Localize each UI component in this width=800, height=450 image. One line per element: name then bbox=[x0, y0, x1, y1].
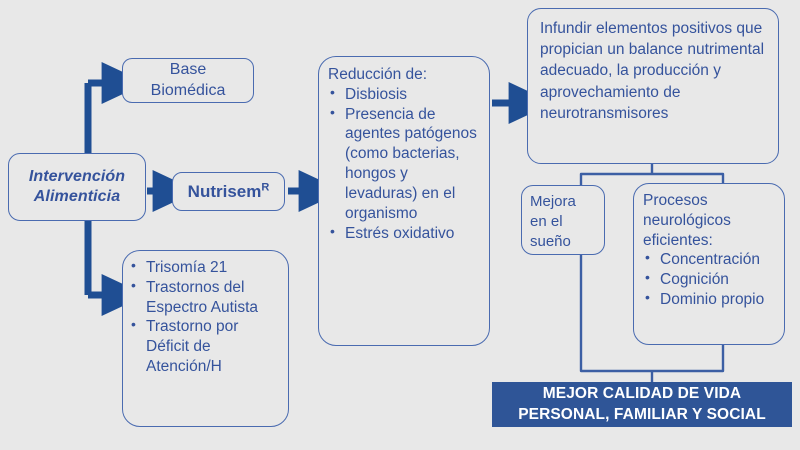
list-item: Trastornos del Espectro Autista bbox=[129, 278, 282, 318]
list-item: Concentración bbox=[643, 250, 778, 270]
base-biomedica-line-2: Biomédica bbox=[151, 81, 226, 101]
node-mejora-sueno[interactable]: Mejora en el sueño bbox=[521, 185, 605, 255]
mejora-line-3: sueño bbox=[530, 232, 598, 252]
mejora-line-2: en el bbox=[530, 212, 598, 232]
list-item: Presencia de agentes patógenos (como bac… bbox=[328, 105, 482, 224]
banner-line-2: PERSONAL, FAMILIAR Y SOCIAL bbox=[518, 405, 766, 426]
list-item: Cognición bbox=[643, 270, 778, 290]
node-intervencion-alimenticia[interactable]: Intervención Alimenticia bbox=[8, 153, 146, 221]
list-item: Trisomía 21 bbox=[129, 258, 282, 278]
node-base-biomedica[interactable]: Base Biomédica bbox=[122, 58, 254, 103]
reduccion-list: Disbiosis Presencia de agentes patógenos… bbox=[328, 85, 482, 244]
nutrisem-label-wrap: NutrisemR bbox=[188, 181, 270, 203]
node-mejor-calidad-de-vida-banner[interactable]: MEJOR CALIDAD DE VIDA PERSONAL, FAMILIAR… bbox=[492, 382, 792, 427]
reduccion-lead: Reducción de: bbox=[328, 65, 482, 85]
split-connector-top bbox=[581, 164, 723, 185]
list-item: Trastorno por Déficit de Atención/H bbox=[129, 317, 282, 376]
procesos-lead-1: Procesos bbox=[643, 191, 778, 211]
node-reduccion[interactable]: Reducción de: Disbiosis Presencia de age… bbox=[318, 56, 490, 346]
mejora-line-1: Mejora bbox=[530, 192, 598, 212]
node-procesos-neurologicos[interactable]: Procesos neurológicos eficientes: Concen… bbox=[633, 183, 785, 345]
list-item: Dominio propio bbox=[643, 290, 778, 310]
procesos-lead-2: neurológicos bbox=[643, 211, 778, 231]
base-biomedica-line-1: Base bbox=[170, 60, 206, 80]
node-nutrisem[interactable]: NutrisemR bbox=[172, 172, 285, 211]
node-infundir-elementos-positivos[interactable]: Infundir elementos positivos que propici… bbox=[527, 8, 779, 164]
nutrisem-label: Nutrisem bbox=[188, 182, 262, 201]
list-item: Estrés oxidativo bbox=[328, 224, 482, 244]
intervencion-line-2: Alimenticia bbox=[34, 187, 120, 207]
condiciones-list: Trisomía 21 Trastornos del Espectro Auti… bbox=[129, 258, 282, 377]
node-condiciones-clinicas[interactable]: Trisomía 21 Trastornos del Espectro Auti… bbox=[122, 250, 289, 427]
procesos-lead-3: eficientes: bbox=[643, 231, 778, 251]
flow-diagram: Intervención Alimenticia Base Biomédica … bbox=[0, 0, 800, 450]
infundir-text: Infundir elementos positivos que propici… bbox=[540, 18, 770, 124]
banner-line-1: MEJOR CALIDAD DE VIDA bbox=[543, 384, 741, 405]
list-item: Disbiosis bbox=[328, 85, 482, 105]
intervencion-line-1: Intervención bbox=[29, 167, 125, 187]
nutrisem-superscript: R bbox=[261, 181, 269, 193]
procesos-list: Concentración Cognición Dominio propio bbox=[643, 250, 778, 309]
